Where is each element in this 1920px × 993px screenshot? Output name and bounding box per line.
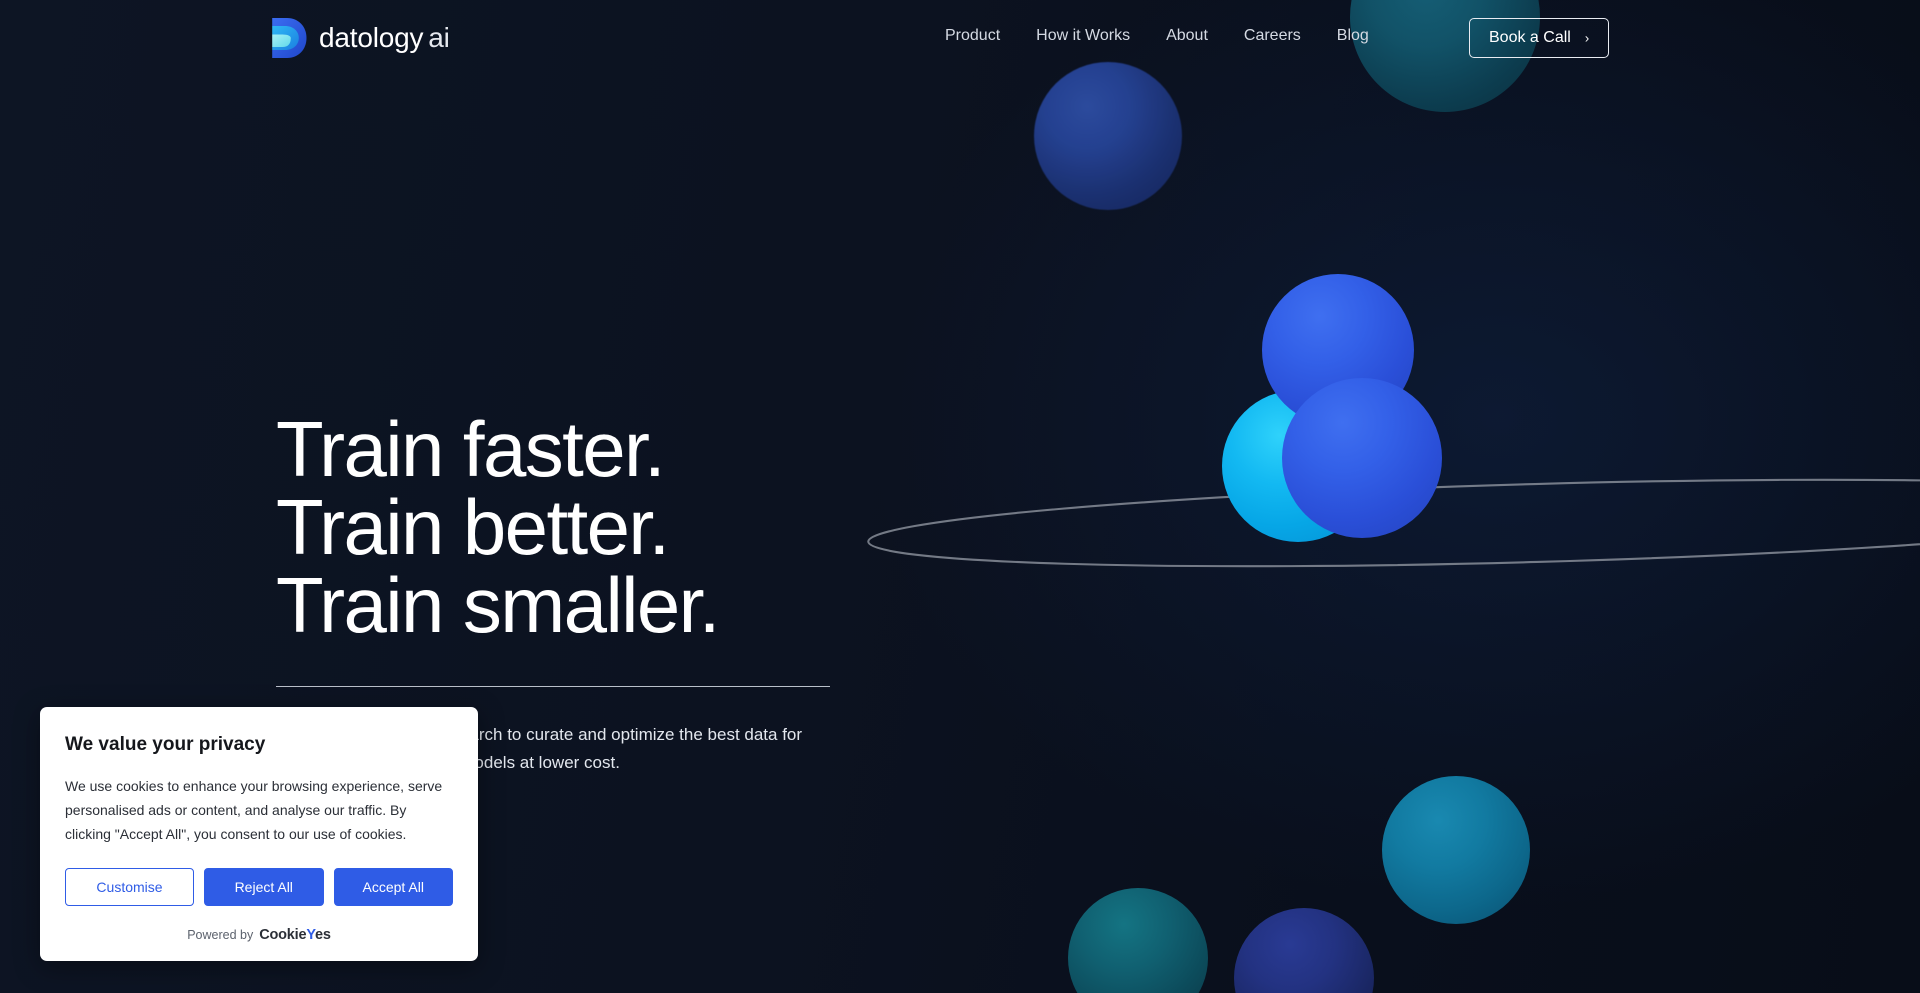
cookie-consent-banner: We value your privacy We use cookies to … bbox=[40, 707, 478, 961]
cookieyes-part-1: Cookie bbox=[259, 927, 306, 943]
datology-d-mark-icon bbox=[270, 17, 308, 59]
hero-divider bbox=[276, 686, 830, 687]
cyan-sphere-cluster-icon bbox=[1222, 390, 1374, 542]
book-a-call-button[interactable]: Book a Call › bbox=[1469, 18, 1609, 58]
nav-item-blog[interactable]: Blog bbox=[1337, 28, 1369, 44]
cookieyes-part-2: Y bbox=[306, 927, 315, 943]
brand-name: datology bbox=[319, 22, 423, 53]
site-header: datologyai Product How it Works About Ca… bbox=[0, 0, 1920, 78]
chevron-right-icon: › bbox=[1585, 31, 1589, 44]
nav-item-about[interactable]: About bbox=[1166, 28, 1208, 44]
nav-item-product[interactable]: Product bbox=[945, 28, 1000, 44]
navy-sphere-top-center-icon bbox=[1034, 62, 1182, 210]
nav-item-careers[interactable]: Careers bbox=[1244, 28, 1301, 44]
headline-line-3: Train smaller. bbox=[276, 566, 1116, 644]
cookieyes-part-3: es bbox=[315, 927, 331, 943]
book-a-call-label: Book a Call bbox=[1489, 29, 1571, 47]
cookie-banner-footer: Powered by CookieYes bbox=[65, 927, 453, 961]
cookieyes-logo: CookieYes bbox=[259, 927, 331, 943]
main-navigation: Product How it Works About Careers Blog bbox=[945, 28, 1369, 44]
powered-by-label: Powered by bbox=[187, 928, 253, 942]
hero-headline: Train faster. Train better. Train smalle… bbox=[276, 410, 1116, 644]
brand-wordmark: datologyai bbox=[319, 24, 450, 52]
cookie-banner-title: We value your privacy bbox=[65, 734, 453, 757]
blue-sphere-cluster-lower-icon bbox=[1282, 378, 1442, 538]
nav-item-how-it-works[interactable]: How it Works bbox=[1036, 28, 1130, 44]
teal-sphere-right-icon bbox=[1382, 776, 1530, 924]
brand-suffix: ai bbox=[428, 22, 449, 53]
navy-sphere-bottom-icon bbox=[1234, 908, 1374, 993]
cookie-banner-actions: Customise Reject All Accept All bbox=[65, 868, 453, 906]
customise-cookies-button[interactable]: Customise bbox=[65, 868, 194, 906]
brand-logo-link[interactable]: datologyai bbox=[270, 17, 450, 59]
headline-line-2: Train better. bbox=[276, 488, 1116, 566]
teal-sphere-bottom-icon bbox=[1068, 888, 1208, 993]
accept-all-cookies-button[interactable]: Accept All bbox=[334, 868, 454, 906]
headline-line-1: Train faster. bbox=[276, 410, 1116, 488]
cookie-banner-body: We use cookies to enhance your browsing … bbox=[65, 774, 453, 846]
hero-page: datologyai Product How it Works About Ca… bbox=[0, 0, 1920, 993]
reject-all-cookies-button[interactable]: Reject All bbox=[204, 868, 324, 906]
blue-sphere-cluster-upper-icon bbox=[1262, 274, 1414, 426]
